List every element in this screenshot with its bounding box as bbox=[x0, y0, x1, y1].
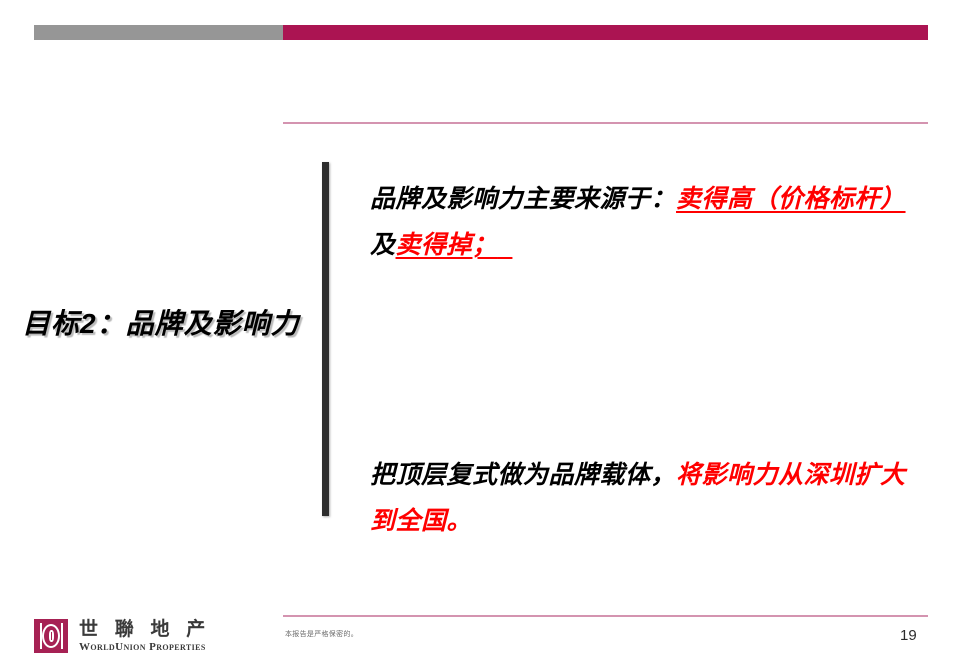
confidentiality-notice: 本报告是严格保密的。 bbox=[285, 629, 358, 639]
divider-top bbox=[283, 122, 928, 124]
page-number: 19 bbox=[900, 627, 917, 644]
header-bar-crimson bbox=[283, 25, 928, 40]
logo-english-name: WorldUnion Properties bbox=[79, 641, 211, 654]
page-title: 目标2：品牌及影响力 bbox=[22, 302, 312, 342]
paragraph1-trailing-underline bbox=[498, 231, 513, 259]
emblem-bar-right bbox=[61, 623, 63, 649]
logo-chinese-name: 世 聯 地 产 bbox=[79, 619, 211, 640]
slide-canvas: { "theme": { "bar_gray": "#969696", "bar… bbox=[0, 0, 960, 665]
logo-text-group: 世 聯 地 产 WorldUnion Properties bbox=[79, 619, 211, 654]
body-paragraph-2: 把顶层复式做为品牌载体，将影响力从深圳扩大到全国。 bbox=[370, 452, 910, 544]
header-decoration bbox=[0, 0, 960, 60]
body-paragraph-1: 品牌及影响力主要来源于：卖得高（价格标杆）及卖得掉； bbox=[370, 176, 910, 268]
header-bar-gray bbox=[34, 25, 283, 40]
paragraph1-lead-text: 品牌及影响力主要来源于： bbox=[370, 185, 676, 213]
paragraph1-connector: 及 bbox=[370, 231, 396, 259]
vertical-accent-bar bbox=[322, 162, 329, 516]
paragraph2-lead-text: 把顶层复式做为品牌载体， bbox=[370, 461, 676, 489]
paragraph1-highlight-1: 卖得高（价格标杆） bbox=[676, 185, 906, 213]
divider-bottom bbox=[283, 615, 928, 617]
paragraph1-highlight-2: 卖得掉； bbox=[396, 231, 498, 259]
worldunion-globe-emblem-icon bbox=[34, 619, 68, 653]
company-logo: 世 聯 地 产 WorldUnion Properties bbox=[34, 617, 211, 655]
emblem-core bbox=[49, 630, 54, 642]
